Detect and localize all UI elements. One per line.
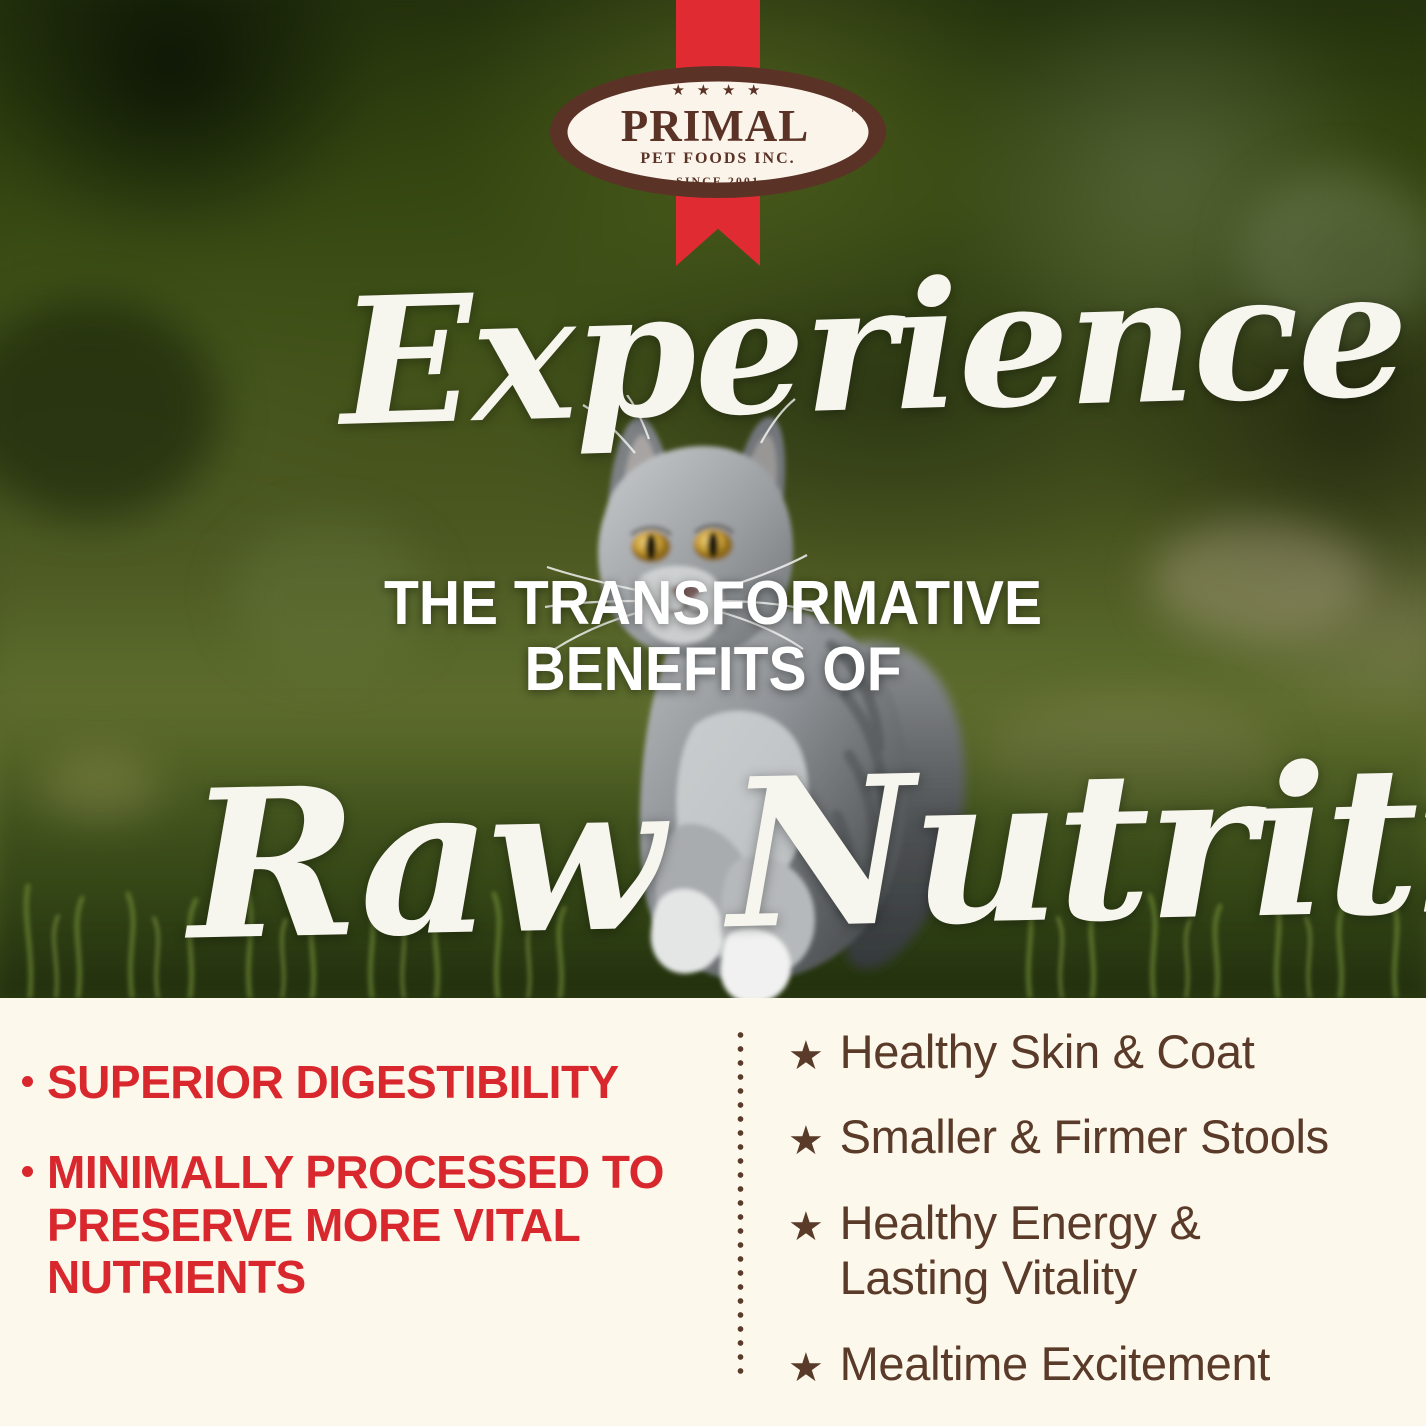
hero-photo: ★ ★ ★ ★ PRIMAL TM PET FOODS INC. SINCE 2… (0, 0, 1426, 998)
star-icon: ★ (788, 1348, 824, 1388)
list-item: ★ Mealtime Excitement (788, 1336, 1388, 1391)
left-benefit-label: MINIMALLY PROCESSED TO PRESERVE MORE VIT… (47, 1146, 665, 1303)
headline-script-experience: Experience (337, 231, 1409, 466)
benefits-panel: SUPERIOR DIGESTIBILITY MINIMALLY PROCESS… (0, 998, 1426, 1426)
headline-script-raw-nutrition: Raw Nutrition (186, 713, 1426, 986)
primal-logo: ★ ★ ★ ★ PRIMAL TM PET FOODS INC. SINCE 2… (547, 62, 889, 202)
bullet-dot-icon (22, 1076, 33, 1087)
vertical-dotted-divider (736, 1028, 745, 1376)
right-benefit-label: Smaller & Firmer Stools (840, 1109, 1329, 1164)
logo-tagline: PET FOODS INC. (640, 150, 795, 167)
list-item: MINIMALLY PROCESSED TO PRESERVE MORE VIT… (22, 1146, 682, 1303)
logo-trademark-icon: TM (850, 104, 863, 114)
bullet-dot-icon (22, 1166, 33, 1177)
star-icon: ★ (788, 1207, 824, 1247)
right-benefit-label: Healthy Energy & Lasting Vitality (840, 1195, 1201, 1306)
list-item: ★ Smaller & Firmer Stools (788, 1109, 1388, 1164)
list-item: SUPERIOR DIGESTIBILITY (22, 1056, 682, 1108)
left-benefits-column: SUPERIOR DIGESTIBILITY MINIMALLY PROCESS… (22, 1056, 682, 1304)
primal-raw-nutrition-poster: ★ ★ ★ ★ PRIMAL TM PET FOODS INC. SINCE 2… (0, 0, 1426, 1426)
headline-subline-2: BENEFITS OF (57, 638, 1369, 702)
logo-wordmark: PRIMAL (621, 101, 809, 151)
list-item: ★ Healthy Skin & Coat (788, 1024, 1388, 1079)
right-benefit-label: Healthy Skin & Coat (840, 1024, 1255, 1079)
right-benefit-label: Mealtime Excitement (840, 1336, 1271, 1391)
star-icon: ★ (788, 1121, 824, 1161)
logo-since: SINCE 2001 (676, 174, 760, 188)
list-item: ★ Healthy Energy & Lasting Vitality (788, 1195, 1388, 1306)
left-benefit-label: SUPERIOR DIGESTIBILITY (47, 1056, 619, 1108)
logo-stars: ★ ★ ★ ★ (671, 83, 764, 99)
star-icon: ★ (788, 1036, 824, 1076)
right-benefits-column: ★ Healthy Skin & Coat ★ Smaller & Firmer… (788, 1024, 1388, 1391)
headline-subline-1: THE TRANSFORMATIVE (57, 572, 1369, 636)
